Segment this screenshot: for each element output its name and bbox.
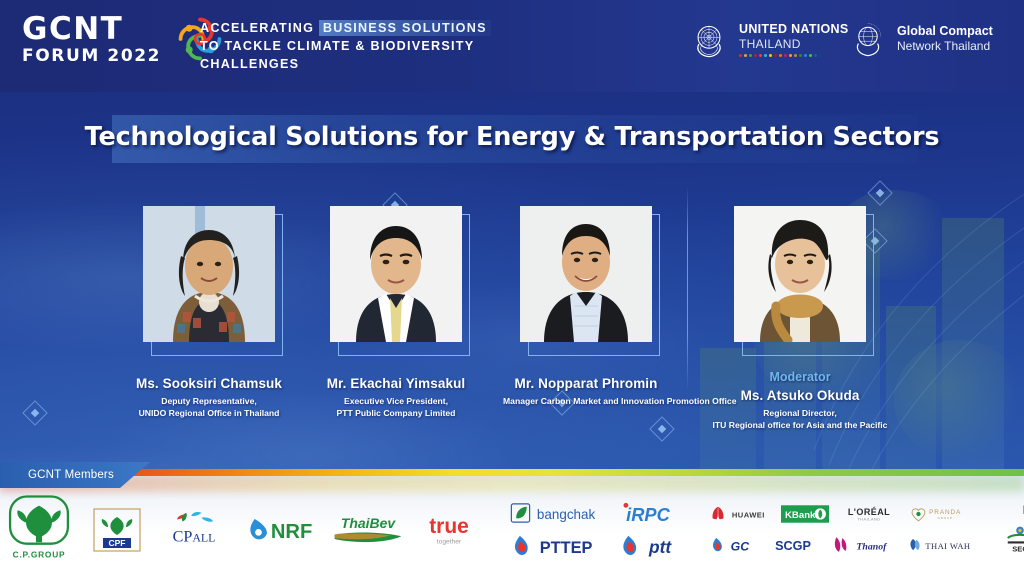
- speaker-photo-frame: [330, 206, 462, 348]
- member-logo-nrf[interactable]: NRF: [246, 514, 318, 546]
- svg-text:THAILAND: THAILAND: [857, 518, 880, 522]
- member-logo-gc[interactable]: GC: [710, 535, 754, 555]
- speaker-card[interactable]: Ms. Sooksiri Chamsuk Deputy Representati…: [126, 206, 292, 419]
- svg-text:bangchak: bangchak: [537, 507, 596, 522]
- gc-line-2: Network Thailand: [897, 39, 993, 53]
- tagline-line-3: CHALLENGES: [200, 55, 491, 73]
- speaker-photo: [330, 206, 462, 342]
- portrait-atsuko-okuda-icon: [734, 206, 866, 342]
- member-logo-thai-wah[interactable]: THAI WAH: [907, 535, 971, 555]
- svg-text:C.P.GROUP: C.P.GROUP: [13, 549, 66, 559]
- tagline-line-2: TO TACKLE CLIMATE & BIODIVERSITY: [200, 37, 491, 55]
- sdg-dot-row: [739, 54, 849, 57]
- speaker-role-line2: PTT Public Company Limited: [313, 408, 479, 420]
- tagline-word-accelerating: ACCELERATING: [200, 21, 314, 35]
- speaker-name: Ms. Atsuko Okuda: [700, 388, 900, 403]
- svg-text:HUAWEI: HUAWEI: [732, 511, 765, 520]
- member-logo-huawei[interactable]: HUAWEI: [710, 505, 768, 523]
- svg-text:THAI WAH: THAI WAH: [925, 541, 970, 551]
- event-tagline: ACCELERATING BUSINESS SOLUTIONS TO TACKL…: [200, 19, 491, 73]
- moderator-card[interactable]: Moderator Ms. Atsuko Okuda Regional Dire…: [700, 206, 900, 431]
- portrait-sooksiri-chamsuk-icon: [143, 206, 275, 342]
- svg-text:ThaiBev: ThaiBev: [341, 515, 396, 531]
- svg-text:true: true: [429, 515, 469, 538]
- member-logo-group-3: HUAWEI KBank L'ORÉAL THAILAND PRANDA GRO…: [696, 504, 985, 556]
- un-logo-text: UNITED NATIONS THAILAND: [739, 22, 849, 57]
- member-logo-irpc[interactable]: iRPC: [618, 501, 676, 525]
- member-logo-group-2: bangchak iRPC PTTEP ptt: [494, 501, 696, 559]
- svg-text:PTTEP: PTTEP: [540, 539, 593, 557]
- speaker-photo: [734, 206, 866, 342]
- speaker-photo-frame: [143, 206, 275, 348]
- member-logo-thanof[interactable]: Thanof: [832, 534, 892, 556]
- svg-text:Thanof: Thanof: [856, 541, 888, 552]
- speaker-name: Mr. Ekachai Yimsakul: [313, 376, 479, 391]
- moderator-label: Moderator: [700, 370, 900, 384]
- gc-logo-text: Global Compact Network Thailand: [897, 24, 993, 53]
- header-bar: GCNT FORUM 2022 ACCELERATING B: [0, 0, 1024, 92]
- speaker-role-line2: ITU Regional office for Asia and the Pac…: [700, 420, 900, 432]
- speaker-card[interactable]: Mr. Nopparat Phromin Manager Carbon Mark…: [503, 206, 669, 408]
- member-logo-ptt[interactable]: ptt: [618, 533, 680, 559]
- member-logo-cpf[interactable]: CPF: [92, 507, 142, 553]
- cp-group-logo-icon: C.P.GROUP: [0, 495, 78, 565]
- speaker-name: Mr. Nopparat Phromin: [503, 376, 669, 391]
- speaker-name: Ms. Sooksiri Chamsuk: [126, 376, 292, 391]
- speaker-role-line1: Executive Vice President,: [313, 396, 479, 408]
- svg-text:CPF: CPF: [109, 538, 126, 548]
- svg-text:KBank: KBank: [785, 510, 816, 521]
- member-logo-true[interactable]: true together: [418, 508, 480, 552]
- member-logo-cpall[interactable]: CPALL: [156, 510, 232, 550]
- svg-text:NRF: NRF: [271, 521, 312, 543]
- svg-text:GROUP: GROUP: [938, 516, 953, 520]
- svg-text:GC: GC: [731, 539, 751, 553]
- partner-logo-sec[interactable]: SEC: [1001, 521, 1024, 555]
- svg-text:CPALL: CPALL: [173, 528, 216, 545]
- member-logo-group-1: CPF CPALL NRF ThaiBev true t: [78, 507, 494, 553]
- gcnt-wordmark: GCNT FORUM 2022: [22, 14, 161, 65]
- session-title: Technological Solutions for Energy & Tra…: [0, 122, 1024, 152]
- speaker-role-line1: Regional Director,: [700, 408, 900, 420]
- svg-text:SEC: SEC: [1012, 545, 1024, 554]
- moderator-divider: [687, 186, 688, 391]
- slide-canvas: GCNT FORUM 2022 ACCELERATING B: [0, 0, 1024, 574]
- speaker-role-line1: Deputy Representative,: [126, 396, 292, 408]
- speaker-role-line2: UNIDO Regional Office in Thailand: [126, 408, 292, 420]
- speaker-card[interactable]: Mr. Ekachai Yimsakul Executive Vice Pres…: [313, 206, 479, 419]
- speaker-photo: [143, 206, 275, 342]
- svg-text:PRANDA: PRANDA: [929, 509, 961, 516]
- rainbow-divider: [0, 469, 1024, 476]
- member-logo-pttep[interactable]: PTTEP: [510, 533, 602, 559]
- svg-text:SCGP: SCGP: [775, 539, 811, 553]
- partners-section: Partners SEC TCEB THAILAND CONVENTION: [985, 505, 1024, 555]
- svg-text:iRPC: iRPC: [626, 504, 670, 525]
- member-logo-kbank[interactable]: KBank: [781, 504, 829, 524]
- speaker-photo: [520, 206, 652, 342]
- member-logo-scgp[interactable]: SCGP: [769, 535, 817, 555]
- speaker-photo-frame: [734, 206, 866, 348]
- svg-text:ptt: ptt: [648, 537, 672, 557]
- gc-line-1: Global Compact: [897, 24, 993, 38]
- speaker-role-line1: Manager Carbon Market and Innovation Pro…: [503, 396, 669, 408]
- gcnt-brand-line2: FORUM 2022: [22, 48, 161, 65]
- un-line-2: THAILAND: [739, 37, 849, 51]
- speaker-photo-frame: [520, 206, 652, 348]
- united-nations-thailand-logo: UNITED NATIONS THAILAND: [688, 18, 849, 60]
- tagline-line-1: ACCELERATING BUSINESS SOLUTIONS: [200, 19, 491, 37]
- gcnt-brand-line1: GCNT: [22, 14, 161, 45]
- member-logo-loreal[interactable]: L'ORÉAL THAILAND: [842, 504, 896, 524]
- member-logo-pranda[interactable]: PRANDA GROUP: [909, 504, 965, 524]
- footer-content: C.P.GROUP CPF CPALL: [0, 486, 1024, 574]
- member-logo-bangchak[interactable]: bangchak: [510, 501, 602, 525]
- portrait-nopparat-phromin-icon: [520, 206, 652, 342]
- global-compact-network-thailand-logo: Global Compact Network Thailand: [848, 18, 993, 58]
- tagline-highlight: BUSINESS SOLUTIONS: [319, 20, 491, 36]
- global-compact-emblem-icon: [848, 18, 888, 58]
- svg-text:together: together: [437, 538, 462, 545]
- member-logo-thaibev[interactable]: ThaiBev: [332, 510, 404, 550]
- gcnt-logo: GCNT FORUM 2022: [22, 12, 227, 66]
- member-logo-cp-group[interactable]: C.P.GROUP: [0, 495, 78, 565]
- un-emblem-icon: [688, 18, 730, 60]
- svg-text:L'ORÉAL: L'ORÉAL: [848, 507, 890, 517]
- un-line-1: UNITED NATIONS: [739, 22, 849, 36]
- portrait-ekachai-yimsakul-icon: [330, 206, 462, 342]
